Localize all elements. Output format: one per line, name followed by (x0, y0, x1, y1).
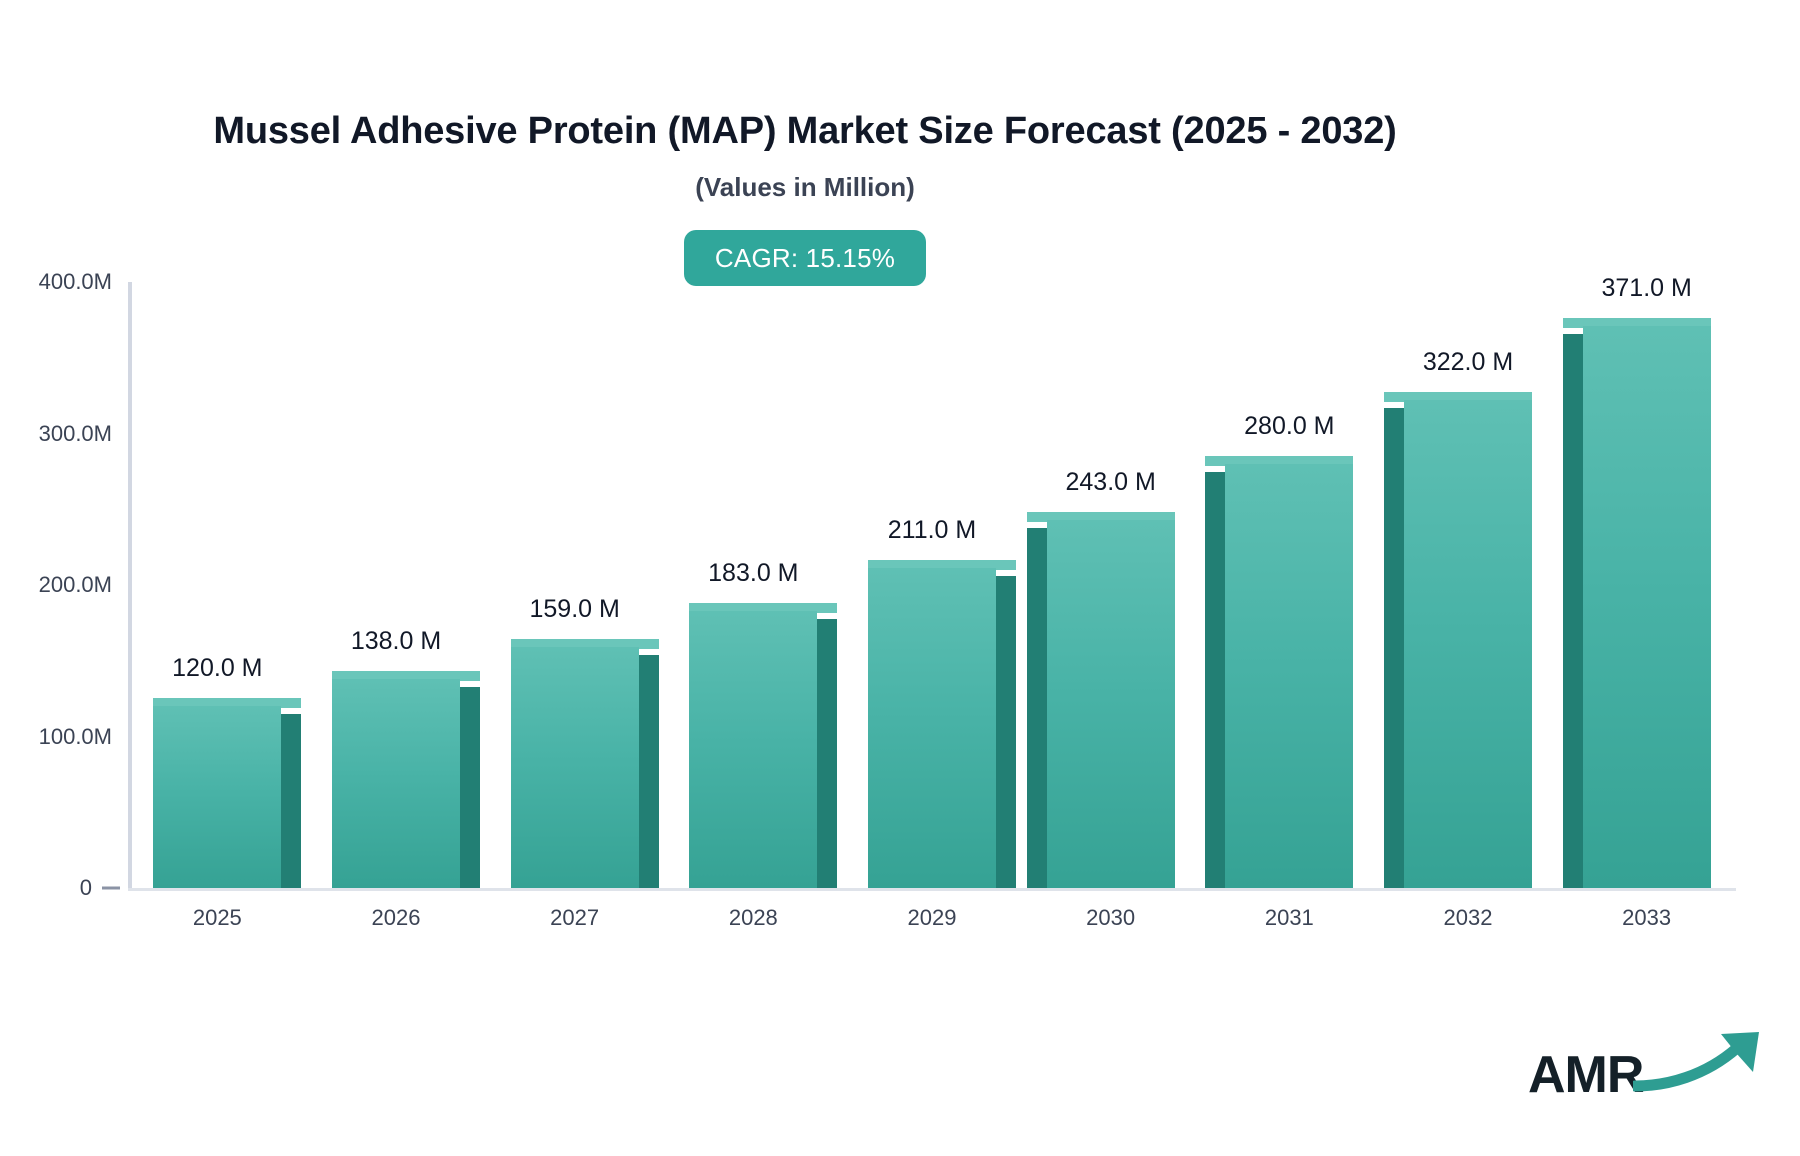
bar-side-face (1384, 408, 1404, 888)
bar-side-face (817, 619, 837, 888)
bar-side-face (281, 714, 301, 888)
x-axis-tick-2029: 2029 (908, 905, 957, 931)
bar-2030[interactable]: 243.0 M (1047, 520, 1175, 888)
bar-value-label: 159.0 M (529, 595, 619, 624)
y-axis-tick-400: 400.0M (0, 269, 112, 295)
y-axis-zero-tick (102, 887, 120, 890)
bar-side-face (996, 576, 1016, 888)
y-axis-tick-200: 200.0M (0, 572, 112, 598)
bar-2033[interactable]: 371.0 M (1583, 326, 1711, 888)
bar-2029[interactable]: 211.0 M (868, 568, 996, 888)
x-axis-tick-2025: 2025 (193, 905, 242, 931)
x-axis-tick-2026: 2026 (372, 905, 421, 931)
bar-side-face (460, 687, 480, 888)
bar-value-label: 138.0 M (351, 627, 441, 656)
bar-2027[interactable]: 159.0 M (511, 647, 639, 888)
bar-value-label: 280.0 M (1244, 412, 1334, 441)
bar-2032[interactable]: 322.0 M (1404, 400, 1532, 888)
bar-value-label: 243.0 M (1065, 468, 1155, 497)
bar-front-face (153, 706, 281, 888)
bar-front-face (332, 679, 460, 888)
bar-2028[interactable]: 183.0 M (689, 611, 817, 888)
bar-value-label: 120.0 M (172, 654, 262, 683)
x-axis-tick-2030: 2030 (1086, 905, 1135, 931)
x-axis-line (128, 888, 1736, 891)
bar-front-face (511, 647, 639, 888)
bar-value-label: 183.0 M (708, 559, 798, 588)
x-axis-tick-2033: 2033 (1622, 905, 1671, 931)
x-axis-tick-2027: 2027 (550, 905, 599, 931)
bar-2026[interactable]: 138.0 M (332, 679, 460, 888)
bar-front-face (1225, 464, 1353, 888)
plot-area: 400.0M300.0M200.0M100.0M0 120.0 M138.0 M… (0, 0, 1800, 1000)
amr-logo-text: AMR (1528, 1049, 1643, 1101)
y-axis-tick-300: 300.0M (0, 421, 112, 447)
y-axis-line (128, 282, 132, 890)
chart-canvas: Mussel Adhesive Protein (MAP) Market Siz… (0, 0, 1800, 1156)
bar-front-face (1047, 520, 1175, 888)
x-axis-tick-2028: 2028 (729, 905, 778, 931)
y-axis-tick-0: 0 (0, 875, 92, 901)
bar-front-face (689, 611, 817, 888)
bar-side-face (1563, 334, 1583, 888)
x-axis-tick-2032: 2032 (1444, 905, 1493, 931)
bar-front-face (868, 568, 996, 888)
bar-2031[interactable]: 280.0 M (1225, 464, 1353, 888)
bar-front-face (1404, 400, 1532, 888)
bar-side-face (639, 655, 659, 888)
bar-2025[interactable]: 120.0 M (153, 706, 281, 888)
bar-value-label: 322.0 M (1423, 348, 1513, 377)
x-axis-tick-2031: 2031 (1265, 905, 1314, 931)
bar-value-label: 211.0 M (888, 516, 976, 545)
bar-value-label: 371.0 M (1601, 274, 1691, 303)
amr-logo: AMR (1528, 1030, 1773, 1101)
bar-front-face (1583, 326, 1711, 888)
y-axis-tick-100: 100.0M (0, 724, 112, 750)
bar-side-face (1027, 528, 1047, 888)
growth-arrow-icon (1633, 1030, 1773, 1097)
bar-side-face (1205, 472, 1225, 888)
